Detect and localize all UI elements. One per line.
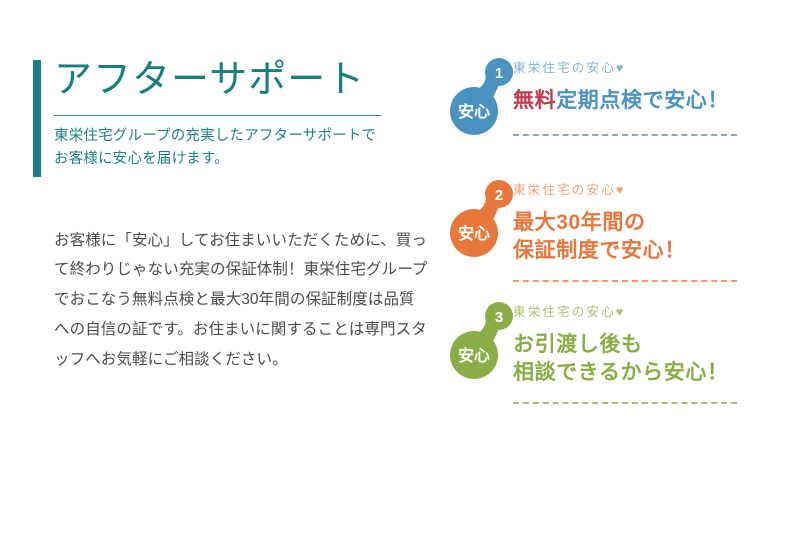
left-column: アフターサポート 東栄住宅グループの充実したアフターサポートでお客様に安心を届け… <box>33 58 403 172</box>
badge-3: 3 安心 <box>448 296 516 381</box>
item-caption-1: 東栄住宅の安心♥ <box>513 52 748 75</box>
page-subtitle: 東栄住宅グループの充実したアフターサポートでお客様に安心を届けます。 <box>54 125 384 172</box>
badge-shape-icon: 2 安心 <box>448 174 516 259</box>
item-text-2: 東栄住宅の安心♥ 最大30年間の 保証制度で安心！ <box>513 174 748 266</box>
page-title: アフターサポート <box>54 58 403 103</box>
title-accent-bar <box>33 60 41 177</box>
support-item-3: 3 安心 東栄住宅の安心♥ お引渡し後も 相談できるから安心！ <box>448 296 748 418</box>
badge-shape-icon: 3 安心 <box>448 296 516 381</box>
item-headline-line2: 保証制度で安心！ <box>513 237 748 266</box>
item-headline-rest: 定期点検で安心！ <box>556 89 729 112</box>
heart-icon: ♥ <box>616 305 623 319</box>
support-item-1: 1 安心 東栄住宅の安心♥ 無料定期点検で安心！ <box>448 52 748 174</box>
item-headline-line1: 最大30年間の <box>513 209 748 238</box>
item-divider-2 <box>513 280 737 282</box>
item-divider-3 <box>513 402 737 404</box>
support-items-list: 1 安心 東栄住宅の安心♥ 無料定期点検で安心！ 2 安心 <box>448 52 748 418</box>
item-headline-line1: お引渡し後も <box>513 331 748 360</box>
item-caption-3: 東栄住宅の安心♥ <box>513 296 748 319</box>
title-divider-rule <box>54 115 381 116</box>
item-caption-label: 東栄住宅の安心 <box>513 61 616 75</box>
item-caption-label: 東栄住宅の安心 <box>513 183 616 197</box>
badge-shape-icon: 1 安心 <box>448 52 516 137</box>
after-support-page: アフターサポート 東栄住宅グループの充実したアフターサポートでお客様に安心を届け… <box>0 0 785 542</box>
body-paragraph: お客様に「安心」してお住まいいただくために、買って終わりじゃない充実の保証体制！… <box>54 226 429 375</box>
item-caption-label: 東栄住宅の安心 <box>513 305 616 319</box>
heart-icon: ♥ <box>616 183 623 197</box>
badge-1: 1 安心 <box>448 52 516 137</box>
badge-number-text: 2 <box>495 187 503 204</box>
item-caption-2: 東栄住宅の安心♥ <box>513 174 748 197</box>
item-headline-accent: 無料 <box>513 89 556 112</box>
item-headline-2: 最大30年間の 保証制度で安心！ <box>513 209 748 266</box>
item-headline-3: お引渡し後も 相談できるから安心！ <box>513 331 748 388</box>
item-divider-1 <box>513 134 737 136</box>
badge-label-text: 安心 <box>458 224 490 243</box>
item-headline-1: 無料定期点検で安心！ <box>513 87 748 116</box>
badge-number-text: 3 <box>495 309 503 326</box>
item-headline-line2: 相談できるから安心！ <box>513 359 748 388</box>
badge-number-text: 1 <box>495 65 503 82</box>
badge-label-text: 安心 <box>458 346 490 365</box>
support-item-2: 2 安心 東栄住宅の安心♥ 最大30年間の 保証制度で安心！ <box>448 174 748 296</box>
badge-2: 2 安心 <box>448 174 516 259</box>
heart-icon: ♥ <box>616 61 623 75</box>
title-block: アフターサポート 東栄住宅グループの充実したアフターサポートでお客様に安心を届け… <box>33 58 403 172</box>
item-text-1: 東栄住宅の安心♥ 無料定期点検で安心！ <box>513 52 748 115</box>
item-text-3: 東栄住宅の安心♥ お引渡し後も 相談できるから安心！ <box>513 296 748 388</box>
badge-label-text: 安心 <box>458 102 490 121</box>
